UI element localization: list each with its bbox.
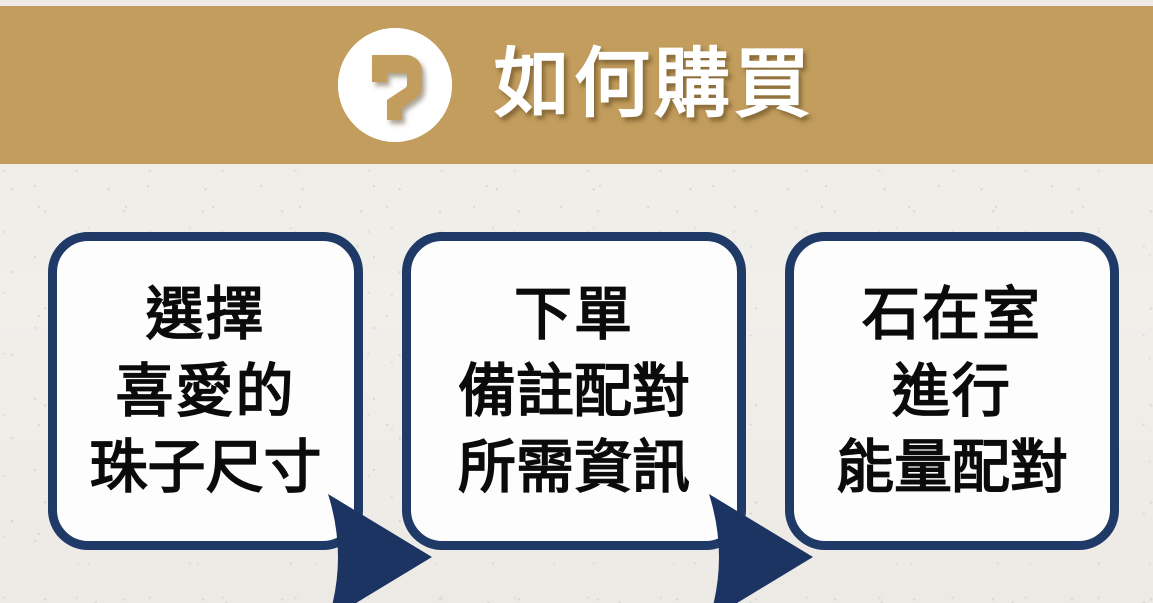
step-3-text: 石在室 進行 能量配對 (794, 276, 1110, 506)
arrow-step1-to-step2 (326, 492, 434, 603)
step-1-text: 選擇 喜愛的 珠子尺寸 (57, 276, 354, 506)
page-title: 如何購買 (494, 46, 814, 122)
step-2-line-3: 所需資訊 (411, 429, 737, 506)
step-3-line-1: 石在室 (794, 276, 1110, 353)
step-2-line-1: 下單 (411, 276, 737, 353)
step-box-3[interactable]: 石在室 進行 能量配對 (785, 232, 1119, 550)
header-band: 如何購買 (0, 3, 1153, 164)
step-box-2[interactable]: 下單 備註配對 所需資訊 (402, 232, 746, 550)
arrow-step2-to-step3 (707, 492, 815, 603)
step-2-text: 下單 備註配對 所需資訊 (411, 276, 737, 506)
step-1-line-1: 選擇 (57, 276, 354, 353)
step-box-1[interactable]: 選擇 喜愛的 珠子尺寸 (48, 232, 363, 550)
step-1-line-2: 喜愛的 (57, 353, 354, 430)
step-1-line-3: 珠子尺寸 (57, 429, 354, 506)
step-2-line-2: 備註配對 (411, 353, 737, 430)
infographic-page: 如何購買 選擇 喜愛的 珠子尺寸 下單 備註配對 所需資訊 (0, 0, 1153, 603)
question-mark-badge-icon (338, 28, 452, 142)
step-3-line-2: 進行 (794, 353, 1110, 430)
header-top-hairline (0, 3, 1153, 6)
purchase-flow: 選擇 喜愛的 珠子尺寸 下單 備註配對 所需資訊 (0, 164, 1153, 603)
step-3-line-3: 能量配對 (794, 429, 1110, 506)
